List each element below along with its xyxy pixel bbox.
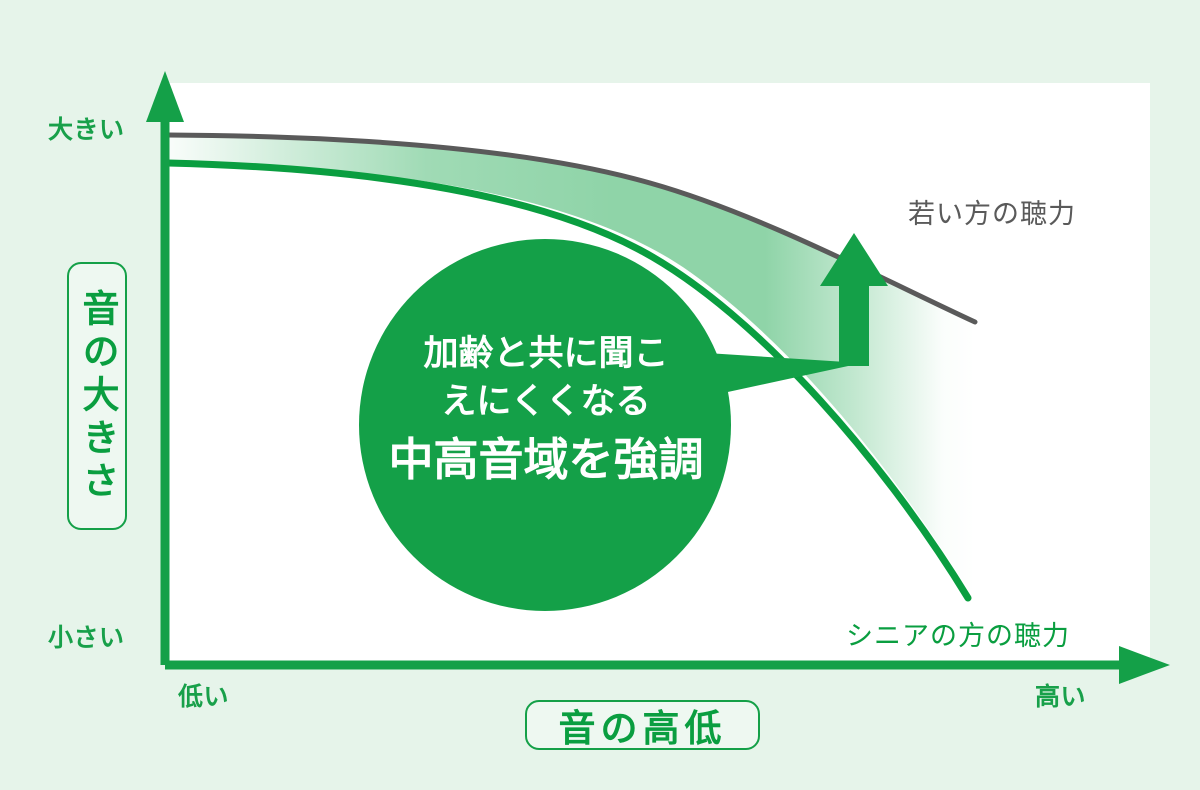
- x-axis-right-tick-label: 高い: [1035, 677, 1086, 713]
- x-axis-arrowhead: [1119, 646, 1170, 684]
- callout-bubble: [359, 239, 731, 611]
- y-axis-bottom-tick-label: 小さい: [48, 618, 125, 654]
- young-hearing-label: 若い方の聴力: [908, 192, 1076, 231]
- chart-svg: [0, 0, 1200, 790]
- x-axis-left-tick-label: 低い: [178, 677, 229, 713]
- y-axis-arrowhead: [146, 71, 184, 122]
- figure-canvas: 大きい 小さい 低い 高い 音の大きさ 音の高低 若い方の聴力 シニアの方の聴力…: [0, 0, 1200, 790]
- y-axis-top-tick-label: 大きい: [48, 110, 125, 146]
- y-axis-title: 音の大きさ: [67, 262, 127, 530]
- x-axis-title: 音の高低: [525, 700, 760, 750]
- senior-hearing-label: シニアの方の聴力: [846, 614, 1070, 653]
